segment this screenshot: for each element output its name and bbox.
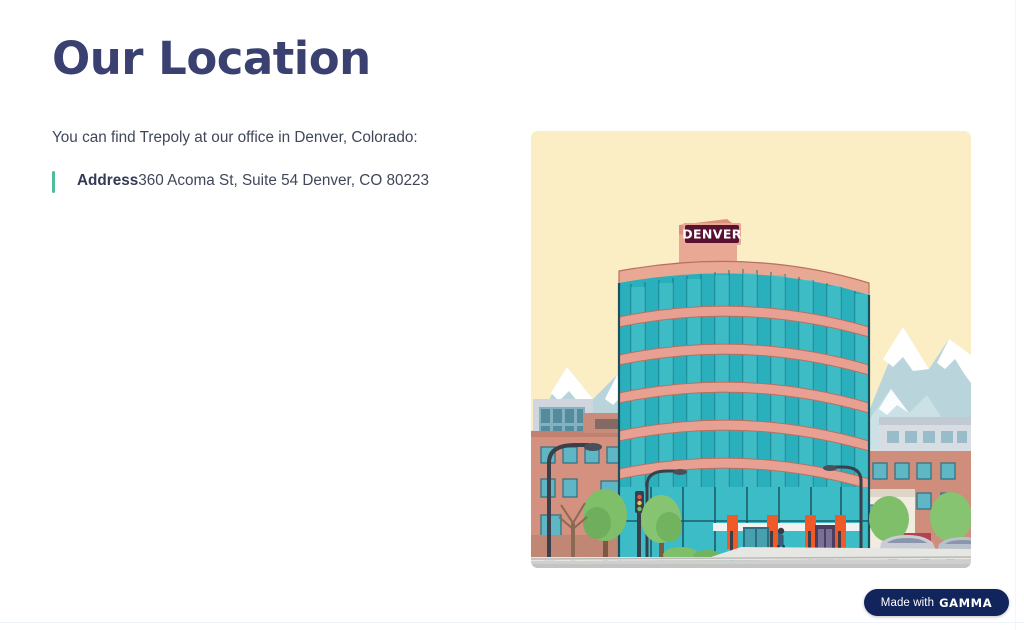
denver-rooftop-sign: DENVER: [682, 223, 742, 245]
made-with-gamma-badge[interactable]: Made with GAMMA: [864, 589, 1009, 616]
denver-building-illustration: DENVER: [531, 131, 971, 568]
svg-text:DENVER: DENVER: [682, 227, 742, 242]
intro-paragraph: You can find Trepoly at our office in De…: [52, 126, 482, 150]
slide-canvas: Our Location You can find Trepoly at our…: [0, 0, 1024, 630]
address-accent-bar: [52, 171, 55, 193]
location-illustration: DENVER: [531, 131, 971, 568]
address-label: Address: [77, 172, 138, 189]
badge-gamma-wordmark: GAMMA: [939, 596, 992, 610]
badge-made-with-label: Made with: [881, 597, 934, 609]
slide-bottom-edge: [0, 622, 1024, 623]
address-value: 360 Acoma St, Suite 54 Denver, CO 80223: [138, 172, 429, 189]
slide-right-edge: [1015, 0, 1016, 630]
text-column: Our Location You can find Trepoly at our…: [52, 34, 482, 193]
page-title: Our Location: [52, 34, 482, 84]
address-block: Address360 Acoma St, Suite 54 Denver, CO…: [52, 170, 482, 193]
